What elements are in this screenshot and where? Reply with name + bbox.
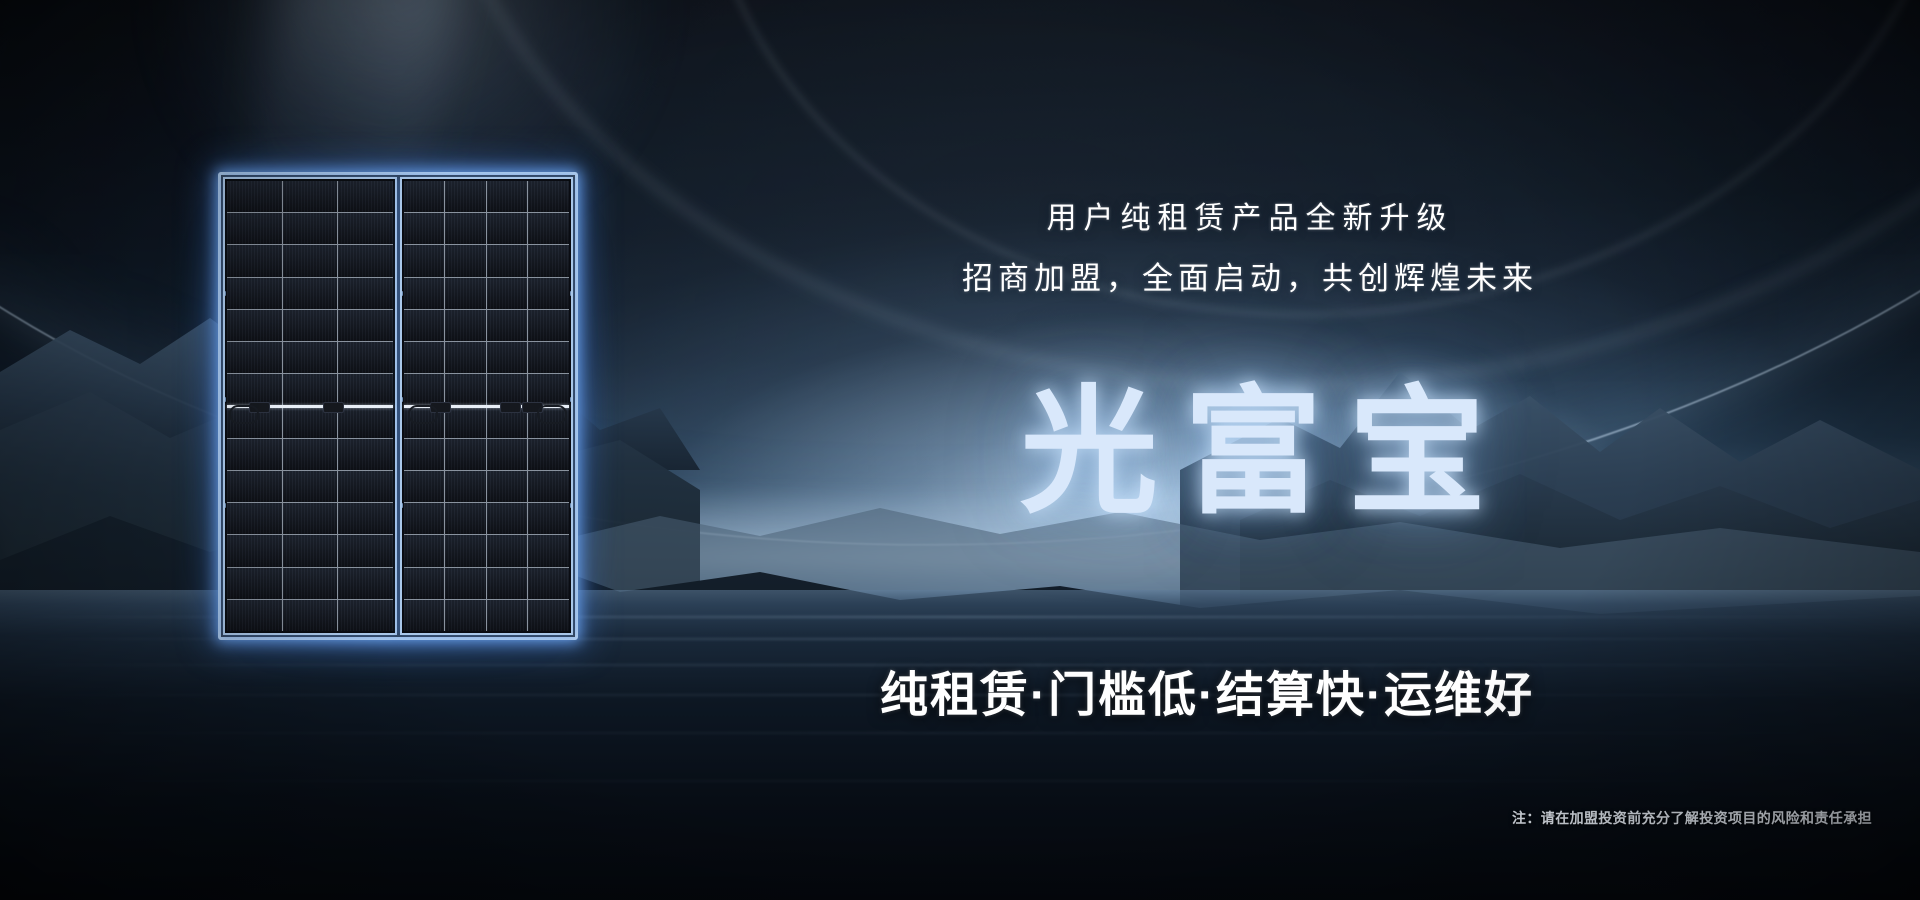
dc-cable [537,405,567,424]
poster-canvas: 用户纯租赁产品全新升级 招商加盟，全面启动，共创辉煌未来 光富宝 纯租赁·门槛低… [0,0,1920,900]
headline-block: 用户纯租赁产品全新升级 招商加盟，全面启动，共创辉煌未来 [890,196,1610,303]
headline-line-2: 招商加盟，全面启动，共创辉煌未来 [890,255,1610,303]
solar-panel-product [218,172,578,640]
disclaimer-note: 注：请在加盟投资前充分了解投资项目的风险和责任承担 [1512,808,1872,828]
junction-box [500,402,521,413]
solar-module-left [223,177,397,635]
feature-tagline: 纯租赁·门槛低·结算快·运维好 [880,655,1534,725]
brand-title: 光富宝 [1020,340,1512,540]
headline-line-1: 用户纯租赁产品全新升级 [890,196,1610,241]
junction-box [323,402,344,413]
dc-cable [229,405,259,424]
dc-cable [408,405,438,424]
solar-module-right [400,177,574,635]
solar-panel-frame [218,172,578,640]
